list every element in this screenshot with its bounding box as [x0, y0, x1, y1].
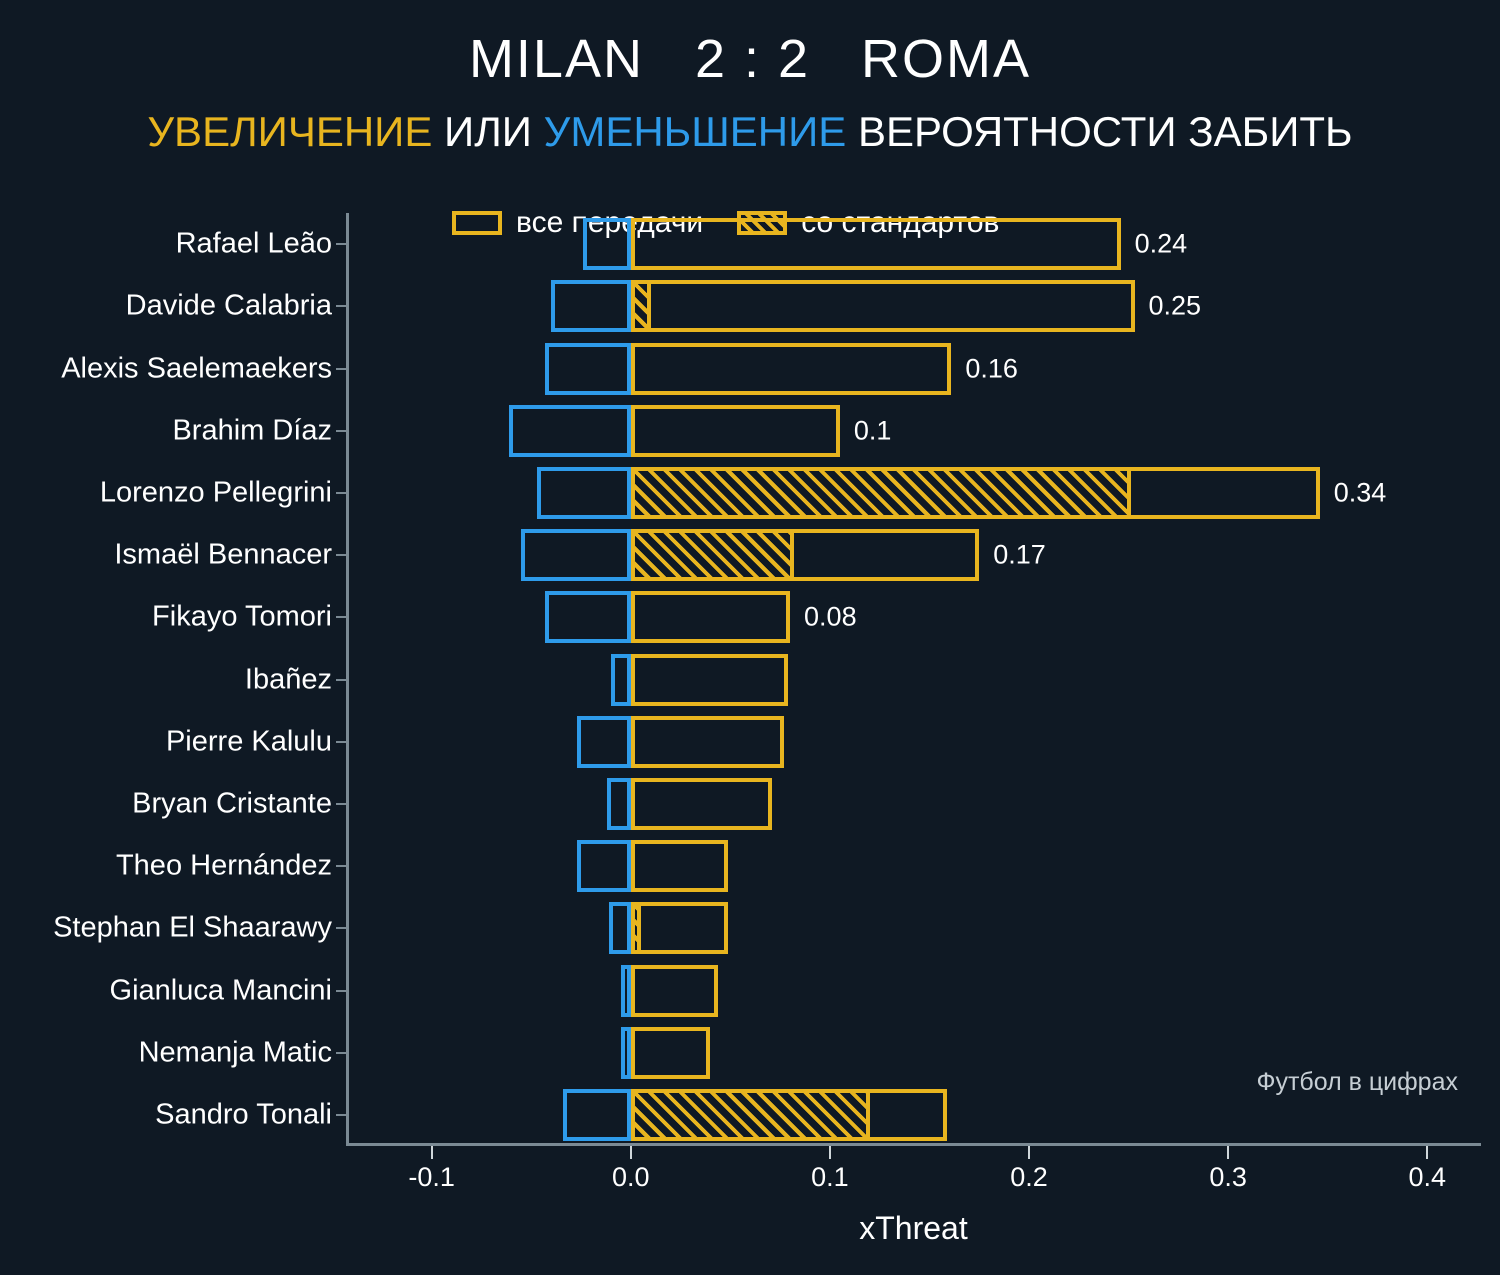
- y-axis-label: Gianluca Mancini: [110, 974, 332, 1007]
- bar-negative[interactable]: [621, 1027, 631, 1079]
- bar-positive[interactable]: [631, 902, 729, 954]
- bar-row[interactable]: [346, 778, 1481, 830]
- subtitle-tail: ВЕРОЯТНОСТИ ЗАБИТЬ: [846, 108, 1352, 155]
- y-axis-label: Pierre Kalulu: [166, 725, 332, 758]
- subtitle-decrease: УМЕНЬШЕНИЕ: [544, 108, 847, 155]
- y-axis-tick: [336, 305, 346, 307]
- x-axis-title: xThreat: [346, 1210, 1481, 1247]
- y-axis-label: Ismaël Bennacer: [114, 539, 332, 572]
- bar-row[interactable]: [346, 840, 1481, 892]
- x-axis-tick-label: 0.3: [1209, 1162, 1247, 1193]
- bar-negative[interactable]: [611, 654, 631, 706]
- y-axis-label: Brahim Díaz: [172, 414, 332, 447]
- bar-negative[interactable]: [607, 778, 631, 830]
- y-axis-tick: [336, 368, 346, 370]
- x-axis-tick-label: 0.4: [1408, 1162, 1446, 1193]
- bar-negative[interactable]: [577, 840, 631, 892]
- bar-row[interactable]: 0.34: [346, 467, 1481, 519]
- bar-positive[interactable]: [631, 778, 772, 830]
- y-axis-tick: [336, 243, 346, 245]
- subtitle-increase: УВЕЛИЧЕНИЕ: [147, 108, 432, 155]
- bar-positive[interactable]: [631, 654, 788, 706]
- bar-row[interactable]: [346, 965, 1481, 1017]
- bar-row[interactable]: 0.16: [346, 343, 1481, 395]
- bar-row[interactable]: 0.1: [346, 405, 1481, 457]
- x-axis-tick: [431, 1146, 433, 1159]
- y-axis-label: Ibañez: [245, 663, 332, 696]
- bar-negative[interactable]: [509, 405, 630, 457]
- y-axis-tick: [336, 1114, 346, 1116]
- bar-negative[interactable]: [583, 218, 631, 270]
- y-axis-tick: [336, 430, 346, 432]
- x-axis-tick-label: 0.2: [1010, 1162, 1048, 1193]
- y-axis-label: Davide Calabria: [126, 290, 332, 323]
- y-axis-tick: [336, 616, 346, 618]
- y-axis-label: Theo Hernández: [116, 850, 332, 883]
- x-axis-ticks: -0.10.00.10.20.30.4: [346, 1146, 1481, 1206]
- bar-set-pieces[interactable]: [631, 1089, 870, 1141]
- bar-negative[interactable]: [563, 1089, 631, 1141]
- y-axis-label: Rafael Leão: [176, 228, 332, 261]
- y-axis-tick: [336, 679, 346, 681]
- bar-negative[interactable]: [621, 965, 631, 1017]
- bar-row[interactable]: 0.17: [346, 529, 1481, 581]
- y-axis-label: Sandro Tonali: [155, 1098, 332, 1131]
- bar-negative[interactable]: [551, 280, 631, 332]
- bar-value-label: 0.25: [1149, 291, 1202, 322]
- page-title: MILAN 2 : 2 ROMA: [0, 28, 1500, 90]
- y-axis-label: Alexis Saelemaekers: [61, 352, 332, 385]
- bar-positive[interactable]: [631, 840, 729, 892]
- bar-negative[interactable]: [609, 902, 631, 954]
- x-axis-tick-label: -0.1: [408, 1162, 455, 1193]
- y-axis-tick: [336, 1052, 346, 1054]
- credit-text: Футбол в цифрах: [1256, 1068, 1458, 1097]
- bar-value-label: 0.16: [965, 353, 1018, 384]
- x-axis-tick-label: 0.0: [612, 1162, 650, 1193]
- bar-value-label: 0.17: [993, 540, 1046, 571]
- bar-row[interactable]: [346, 716, 1481, 768]
- y-axis-tick: [336, 803, 346, 805]
- y-axis-tick: [336, 865, 346, 867]
- bar-value-label: 0.34: [1334, 477, 1387, 508]
- bar-set-pieces[interactable]: [631, 529, 794, 581]
- bar-negative[interactable]: [545, 343, 631, 395]
- bar-row[interactable]: 0.08: [346, 591, 1481, 643]
- x-axis-tick: [1028, 1146, 1030, 1159]
- bar-positive[interactable]: [631, 1027, 711, 1079]
- bar-row[interactable]: [346, 654, 1481, 706]
- bar-set-pieces[interactable]: [631, 902, 641, 954]
- y-axis-label: Stephan El Shaarawy: [53, 912, 332, 945]
- bar-positive[interactable]: [631, 343, 952, 395]
- x-axis-tick-label: 0.1: [811, 1162, 849, 1193]
- y-axis-label: Nemanja Matic: [139, 1036, 332, 1069]
- y-axis-labels: Rafael LeãoDavide CalabriaAlexis Saelema…: [0, 213, 332, 1146]
- y-axis-tick: [336, 927, 346, 929]
- bar-row[interactable]: 0.25: [346, 280, 1481, 332]
- y-axis-tick: [336, 554, 346, 556]
- bar-value-label: 0.24: [1135, 229, 1188, 260]
- page-subtitle: УВЕЛИЧЕНИЕ ИЛИ УМЕНЬШЕНИЕ ВЕРОЯТНОСТИ ЗА…: [0, 108, 1500, 156]
- bar-value-label: 0.1: [854, 415, 892, 446]
- subtitle-or: ИЛИ: [432, 108, 543, 155]
- bar-negative[interactable]: [577, 716, 631, 768]
- bar-positive[interactable]: [631, 405, 840, 457]
- bar-set-pieces[interactable]: [631, 280, 651, 332]
- y-axis-label: Fikayo Tomori: [152, 601, 332, 634]
- bar-value-label: 0.08: [804, 602, 857, 633]
- y-axis-label: Lorenzo Pellegrini: [100, 476, 332, 509]
- bar-negative[interactable]: [521, 529, 631, 581]
- bar-positive[interactable]: [631, 965, 719, 1017]
- bar-positive[interactable]: [631, 280, 1135, 332]
- y-axis-tick: [336, 741, 346, 743]
- y-axis-tick: [336, 990, 346, 992]
- x-axis-tick: [1426, 1146, 1428, 1159]
- x-axis-tick: [1227, 1146, 1229, 1159]
- bar-set-pieces[interactable]: [631, 467, 1131, 519]
- y-axis-label: Bryan Cristante: [132, 787, 332, 820]
- bar-positive[interactable]: [631, 218, 1121, 270]
- bar-negative[interactable]: [545, 591, 631, 643]
- plot-area: 0.240.250.160.10.340.170.08: [346, 213, 1481, 1146]
- bar-row[interactable]: 0.24: [346, 218, 1481, 270]
- x-axis-tick: [630, 1146, 632, 1159]
- bar-negative[interactable]: [537, 467, 631, 519]
- x-axis-tick: [829, 1146, 831, 1159]
- y-axis-tick: [336, 492, 346, 494]
- bar-positive[interactable]: [631, 716, 784, 768]
- bar-row[interactable]: [346, 902, 1481, 954]
- bar-positive[interactable]: [631, 591, 790, 643]
